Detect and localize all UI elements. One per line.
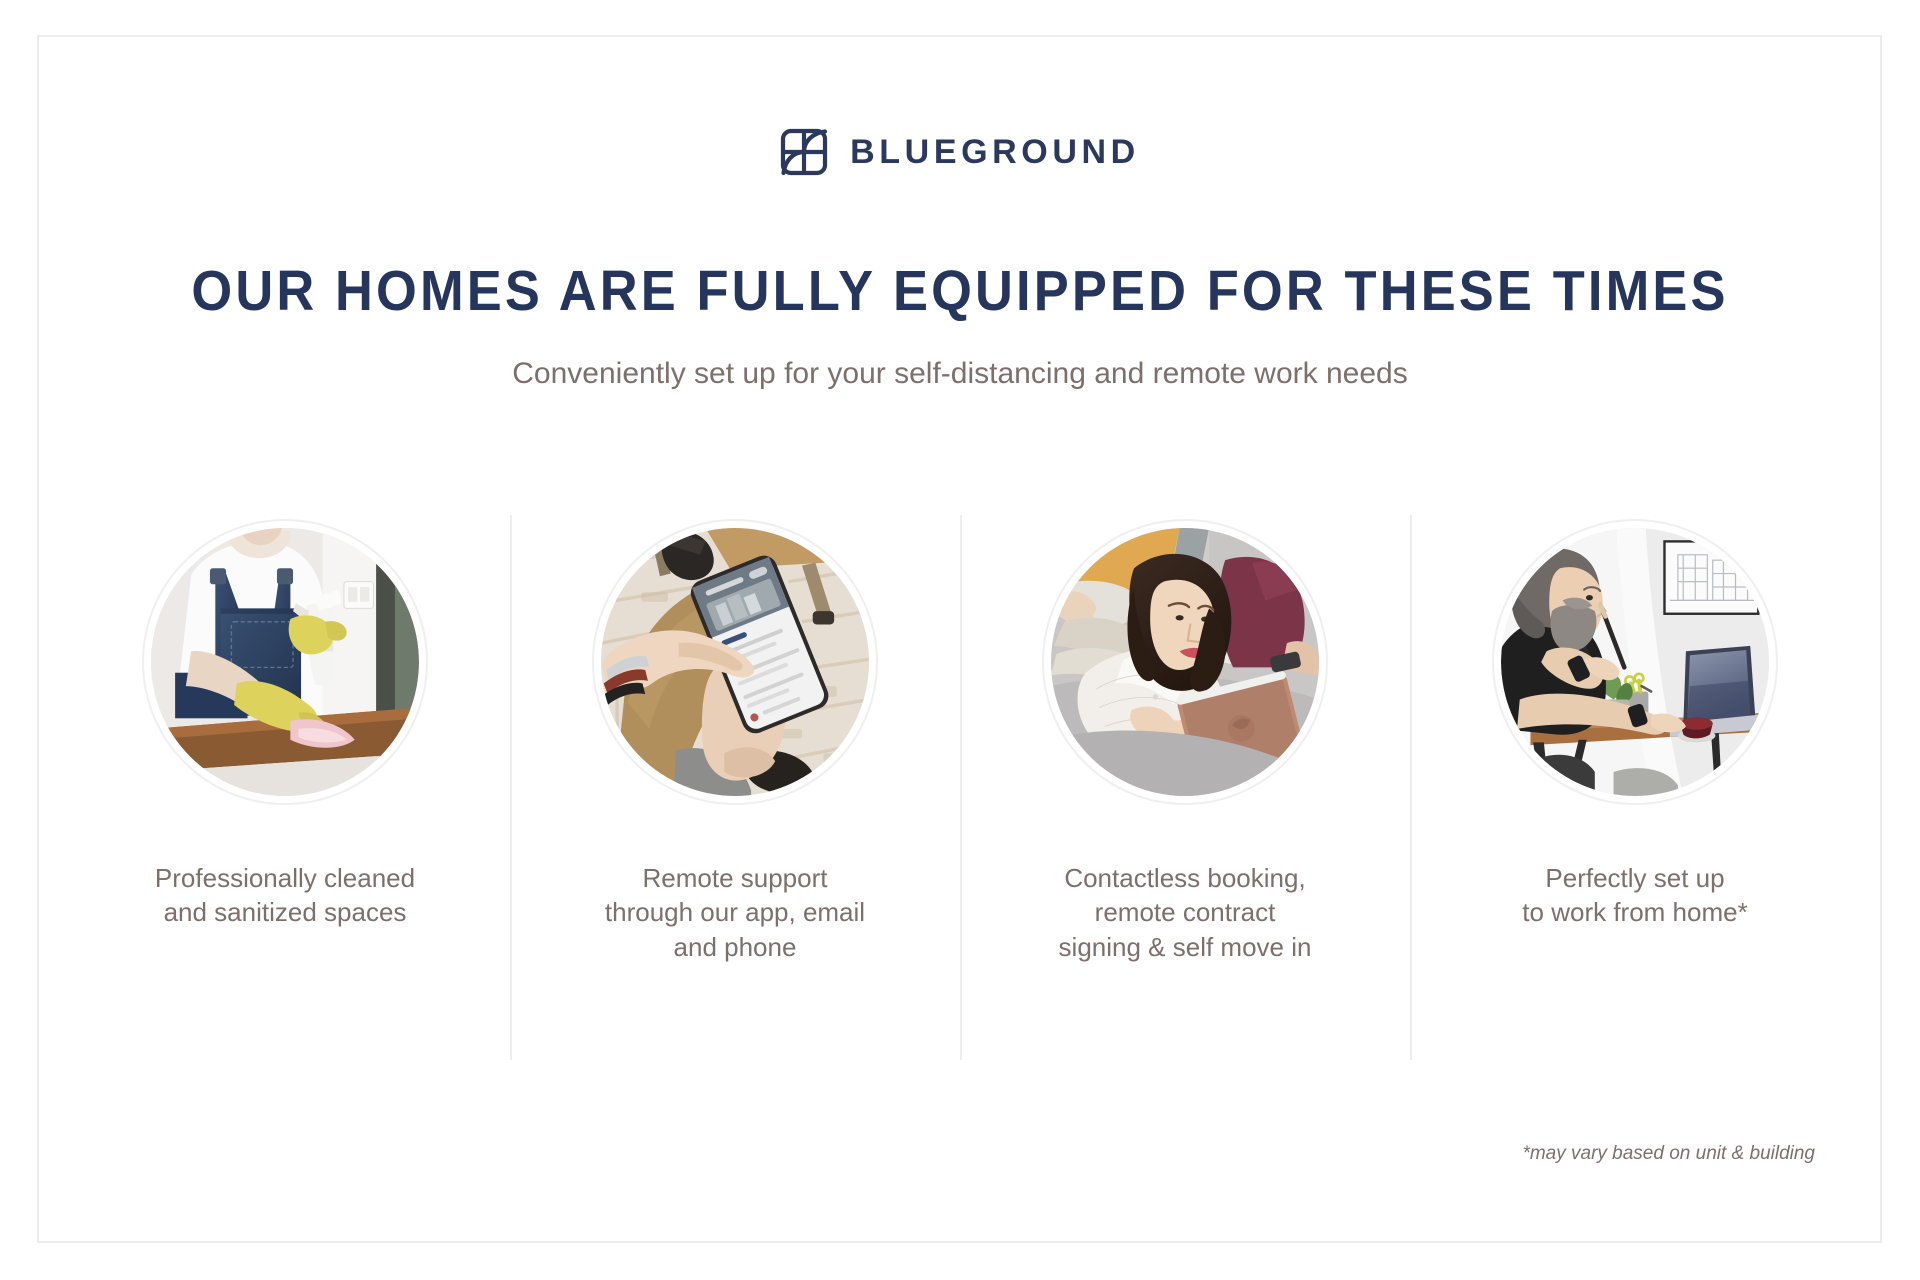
- brand-name: BLUEGROUND: [850, 135, 1140, 169]
- brand-lockup: BLUEGROUND: [0, 128, 1920, 176]
- feature-column-contactless-booking: Contactless booking, remote contract sig…: [960, 515, 1410, 1060]
- page-subtitle: Conveniently set up for your self-distan…: [0, 354, 1920, 393]
- photo-ring: [592, 519, 878, 805]
- feature-caption: Professionally cleaned and sanitized spa…: [155, 861, 415, 930]
- feature-caption: Contactless booking, remote contract sig…: [1059, 861, 1312, 964]
- poster-canvas: BLUEGROUND Our homes are fully equipped …: [0, 0, 1920, 1280]
- feature-caption: Perfectly set up to work from home*: [1522, 861, 1747, 930]
- footnote: *may vary based on unit & building: [1522, 1143, 1815, 1165]
- feature-column-remote-support: Remote support through our app, email an…: [510, 515, 960, 1060]
- feature-columns: Professionally cleaned and sanitized spa…: [60, 515, 1860, 1060]
- feature-column-work-from-home: Perfectly set up to work from home*: [1410, 515, 1860, 1060]
- photo-ring: [1492, 519, 1778, 805]
- photo-cleaning: [151, 528, 419, 796]
- photo-ring: [1042, 519, 1328, 805]
- feature-caption: Remote support through our app, email an…: [605, 861, 865, 964]
- photo-mobile-app: [601, 528, 869, 796]
- photo-tablet-booking: [1051, 528, 1319, 796]
- feature-column-cleaning: Professionally cleaned and sanitized spa…: [60, 515, 510, 1060]
- blueground-square-mark-icon: [780, 128, 828, 176]
- photo-work-from-home: [1501, 528, 1769, 796]
- page-title: Our homes are fully equipped for these t…: [77, 262, 1843, 322]
- photo-ring: [142, 519, 428, 805]
